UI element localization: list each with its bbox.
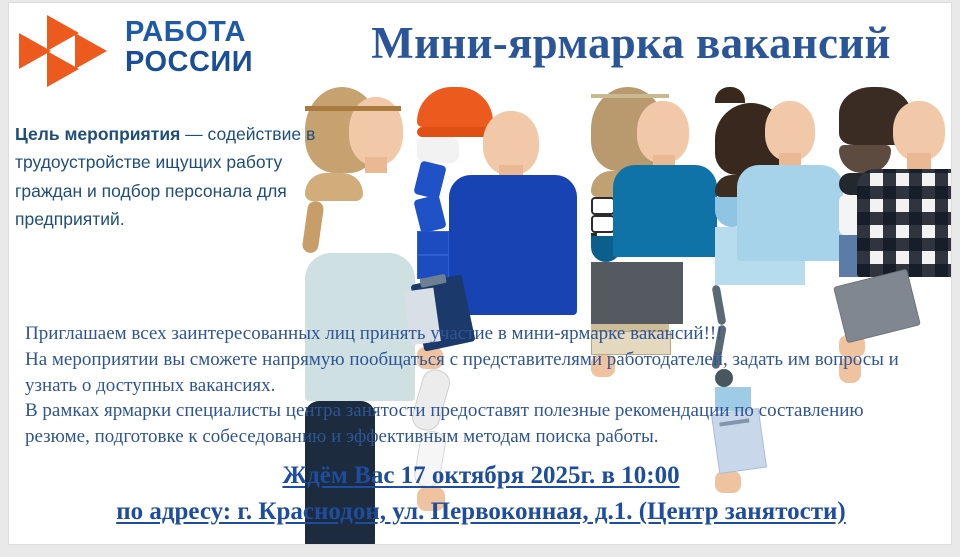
page-title: Мини-ярмарка вакансий bbox=[309, 17, 952, 69]
body-paragraph: Приглашаем всех заинтересованных лиц при… bbox=[25, 321, 941, 450]
bottom-strip bbox=[0, 545, 960, 557]
body-line: В рамках ярмарки специалисты центра заня… bbox=[25, 398, 941, 424]
glasses-icon bbox=[591, 197, 615, 215]
body-line: резюме, подготовке к собеседованию и эфф… bbox=[25, 424, 941, 450]
brand-line-1: РАБОТА bbox=[125, 18, 253, 48]
brand-line-2: РОССИИ bbox=[125, 48, 253, 78]
event-datetime: Ждём Вас 17 октября 2025г. в 10:00 bbox=[9, 458, 952, 494]
brand-logo: РАБОТА РОССИИ bbox=[15, 9, 277, 89]
event-details: Ждём Вас 17 октября 2025г. в 10:00 по ад… bbox=[9, 458, 952, 529]
body-line: На мероприятии вы сможете напрямую пообщ… bbox=[25, 347, 941, 373]
poster-canvas: РАБОТА РОССИИ Мини-ярмарка вакансий Цель… bbox=[8, 2, 952, 545]
poster-header: РАБОТА РОССИИ Мини-ярмарка вакансий bbox=[9, 3, 952, 95]
body-line: узнать о доступных вакансиях. bbox=[25, 373, 941, 399]
four-triangles-logo-icon bbox=[17, 11, 125, 91]
purpose-paragraph: Цель мероприятия — содействие в трудоуст… bbox=[15, 120, 345, 233]
event-address: по адресу: г. Краснодон, ул. Первоконная… bbox=[9, 494, 952, 530]
workers-photo-band bbox=[295, 87, 952, 315]
person-construction-worker bbox=[417, 87, 607, 315]
hard-hat-icon bbox=[417, 87, 493, 127]
brand-logo-text: РАБОТА РОССИИ bbox=[125, 18, 253, 78]
poster-root: РАБОТА РОССИИ Мини-ярмарка вакансий Цель… bbox=[0, 0, 960, 557]
purpose-label: Цель мероприятия bbox=[15, 124, 180, 144]
person-it-specialist-man bbox=[839, 87, 952, 315]
body-line: Приглашаем всех заинтересованных лиц при… bbox=[25, 321, 941, 347]
